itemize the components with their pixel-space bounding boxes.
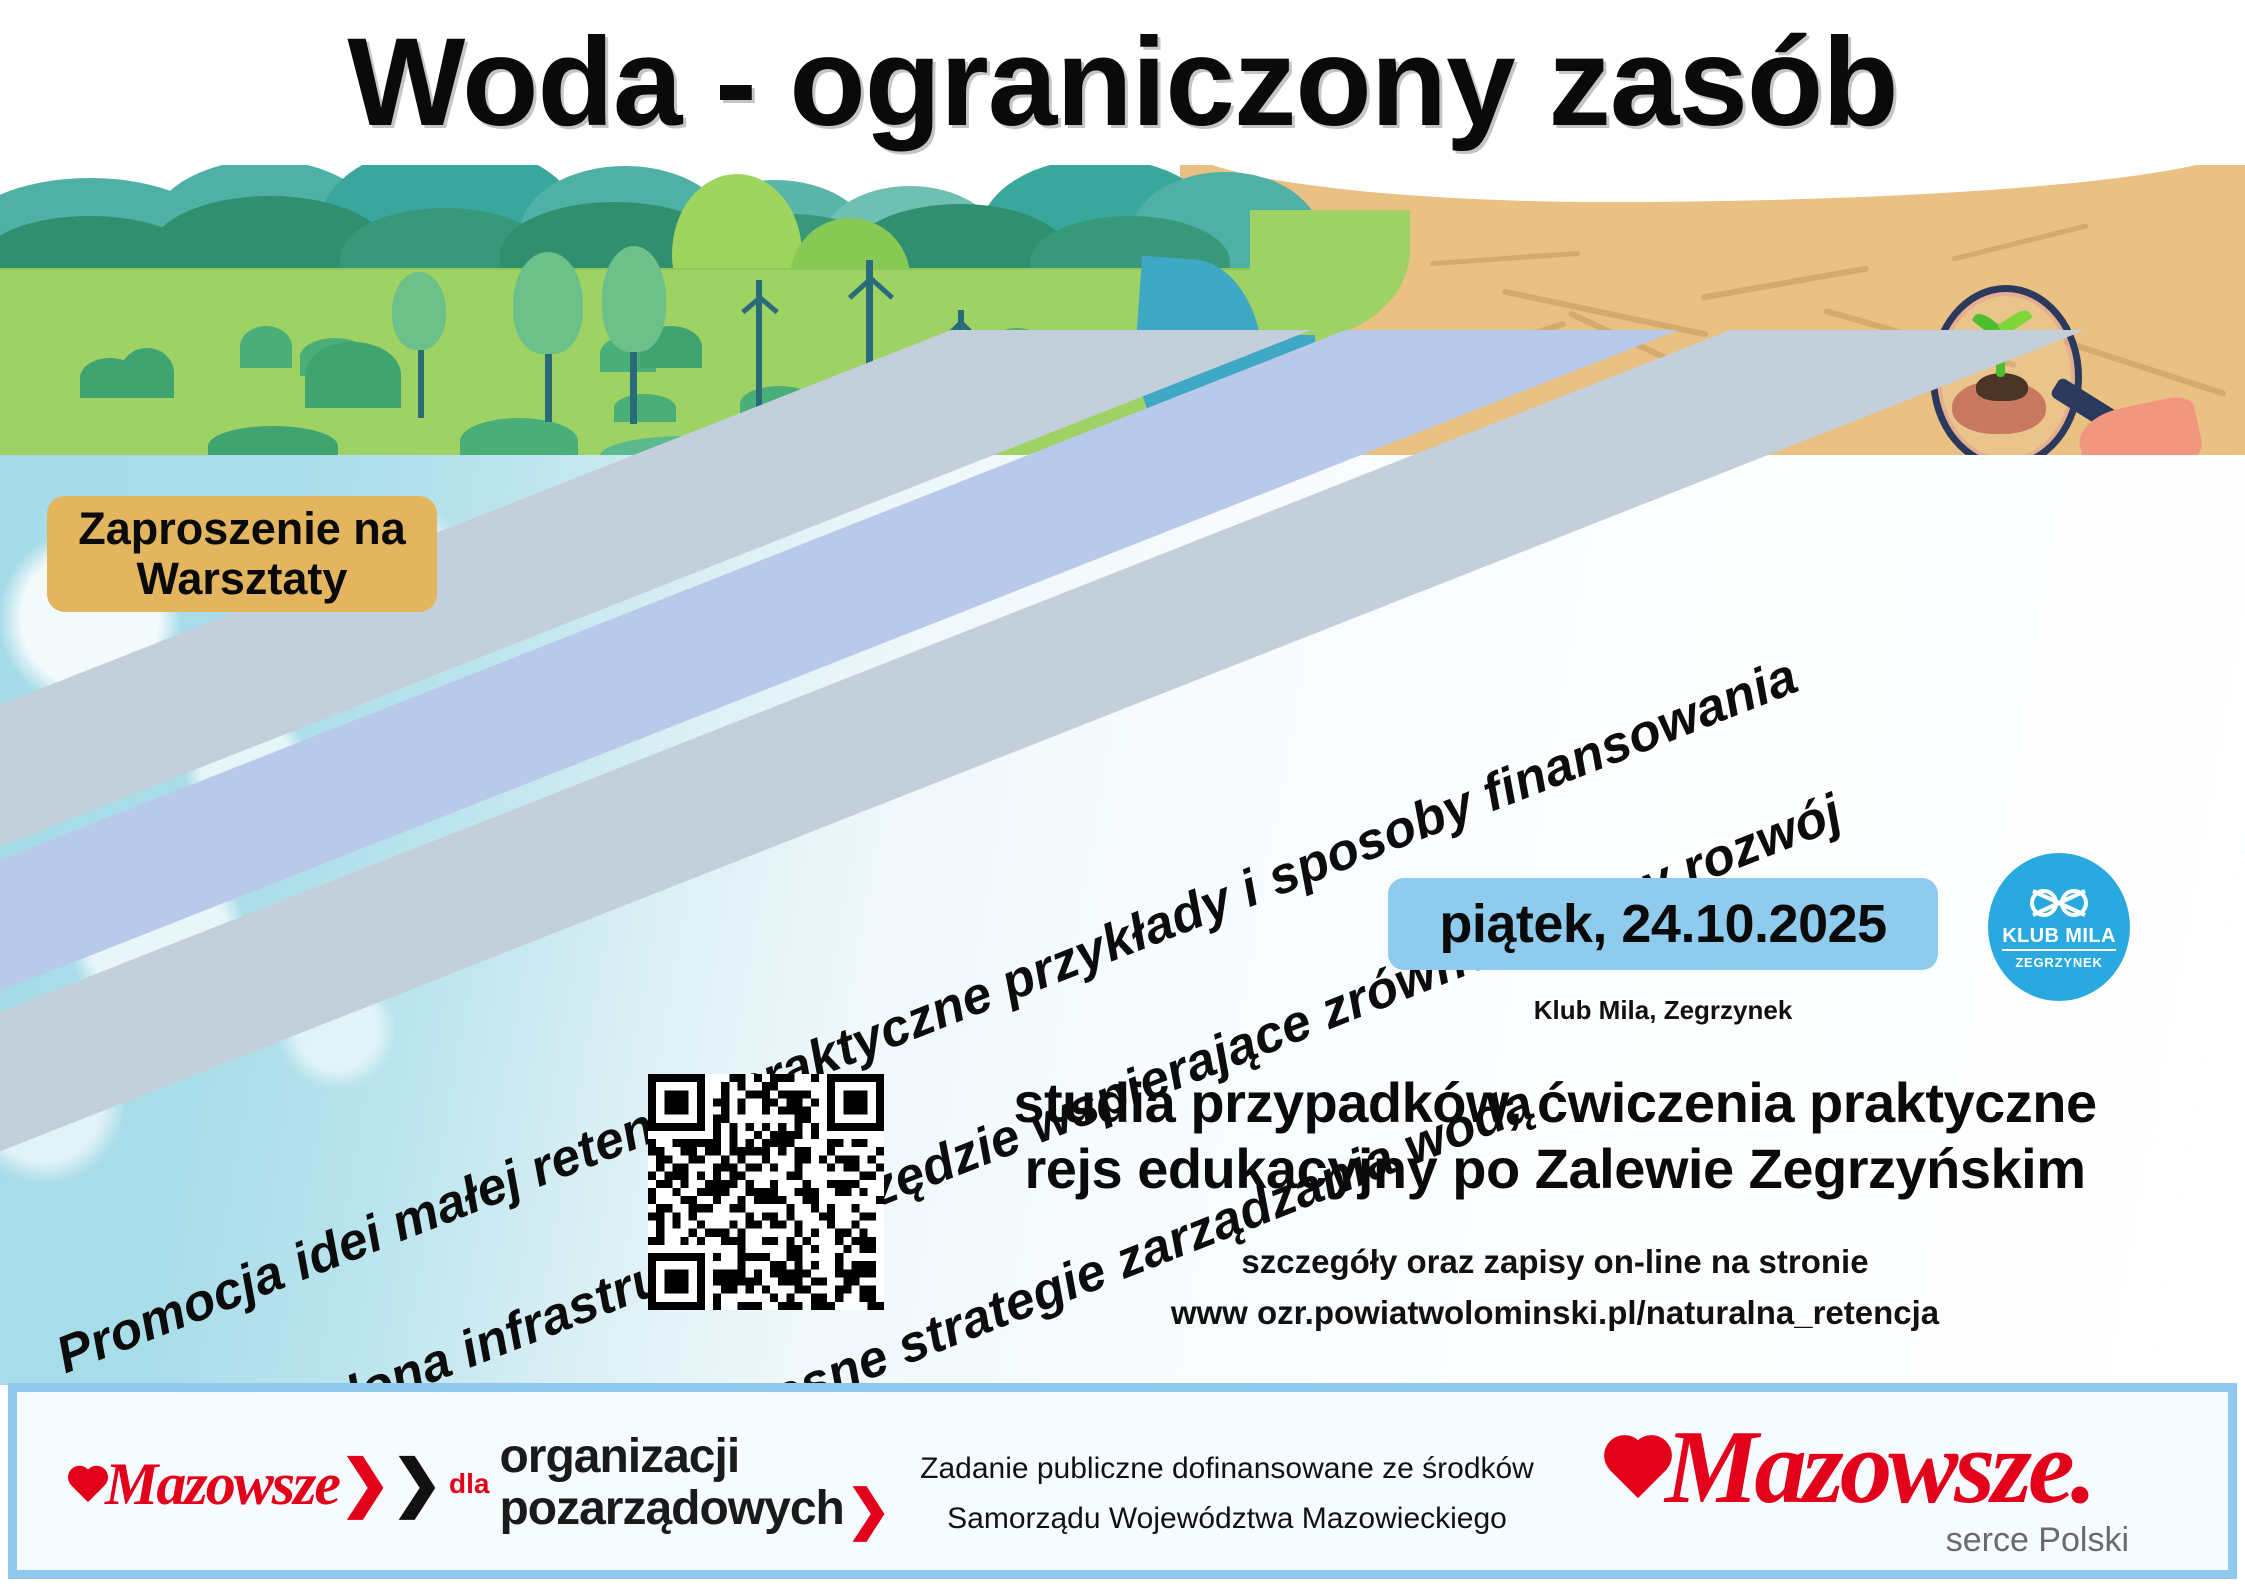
event-venue: Klub Mila, Zegrzynek: [1388, 995, 1938, 1026]
signup-info: szczegóły oraz zapisy on-line na stronie…: [940, 1236, 2170, 1338]
footer: Mazowsze ❯ ❯ dla organizacji pozarządowy…: [8, 1383, 2237, 1579]
mazowsze-ngo-line1: organizacji: [499, 1432, 891, 1483]
bush: [240, 326, 292, 368]
nautical-knot-icon: [2027, 884, 2091, 922]
tree-canopy: [602, 246, 666, 352]
program-description: studia przypadków, ćwiczenia praktyczne …: [940, 1070, 2170, 1202]
invitation-line-1: Zaproszenie na: [78, 504, 406, 554]
funding-line-2: Samorządu Województwa Mazowieckiego: [907, 1494, 1547, 1544]
title-bar: Woda - ograniczony zasób: [0, 0, 2245, 165]
mazowsze-ngo-dla: dla: [449, 1468, 489, 1500]
chevron-right-black-icon: ❯: [391, 1453, 443, 1515]
mazowsze-region-logo: Mazowsze. serce Polski: [1597, 1414, 2157, 1564]
heart-icon: [65, 1461, 111, 1507]
program-line-1: studia przypadków, ćwiczenia praktyczne: [940, 1070, 2170, 1136]
mazowsze-ngo-line2: pozarządowych: [499, 1484, 843, 1535]
tree-canopy: [392, 272, 446, 350]
qr-code[interactable]: [648, 1074, 884, 1310]
mazowsze-wordmark: Mazowsze.: [1665, 1414, 2093, 1519]
soil: [1976, 373, 2028, 401]
event-date-badge: piątek, 24.10.2025: [1388, 878, 1938, 970]
tree-canopy: [513, 252, 583, 354]
signup-url[interactable]: www ozr.powiatwolominski.pl/naturalna_re…: [940, 1287, 2170, 1338]
mazowsze-ngo-brand: Mazowsze: [105, 1454, 339, 1514]
bush: [740, 386, 818, 422]
signup-line-1: szczegóły oraz zapisy on-line na stronie: [940, 1236, 2170, 1287]
page-title: Woda - ograniczony zasób: [347, 11, 1897, 154]
klub-mila-name: KLUB MILA: [2002, 926, 2116, 951]
invitation-line-2: Warsztaty: [137, 554, 348, 604]
program-line-2: rejs edukacyjny po Zalewie Zegrzyńskim: [940, 1136, 2170, 1202]
bush: [614, 394, 676, 422]
chevron-right-red-icon: ❯: [339, 1453, 391, 1515]
poster: Promocja idei małej retencji, praktyczne…: [0, 0, 2245, 1587]
klub-mila-sub: ZEGRZYNEK: [2015, 955, 2102, 970]
funding-statement: Zadanie publiczne dofinansowane ze środk…: [907, 1444, 1547, 1543]
mazowsze-tagline: serce Polski: [1597, 1521, 2157, 1560]
mazowsze-ngo-logo: Mazowsze ❯ ❯ dla organizacji pozarządowy…: [65, 1426, 885, 1546]
bush: [305, 342, 401, 408]
bush: [1020, 386, 1074, 414]
event-date: piątek, 24.10.2025: [1439, 893, 1886, 955]
invitation-badge: Zaproszenie na Warsztaty: [47, 496, 437, 612]
bush: [120, 348, 174, 398]
landscape-illustration: [0, 150, 2245, 455]
funding-line-1: Zadanie publiczne dofinansowane ze środk…: [907, 1444, 1547, 1494]
klub-mila-logo: KLUB MILA ZEGRZYNEK: [1988, 853, 2130, 1001]
bush: [988, 328, 1046, 368]
magnifying-glass-icon: [1930, 285, 2070, 455]
chevron-right-red-icon: ❯: [846, 1483, 891, 1537]
heart-icon: [1597, 1428, 1679, 1506]
